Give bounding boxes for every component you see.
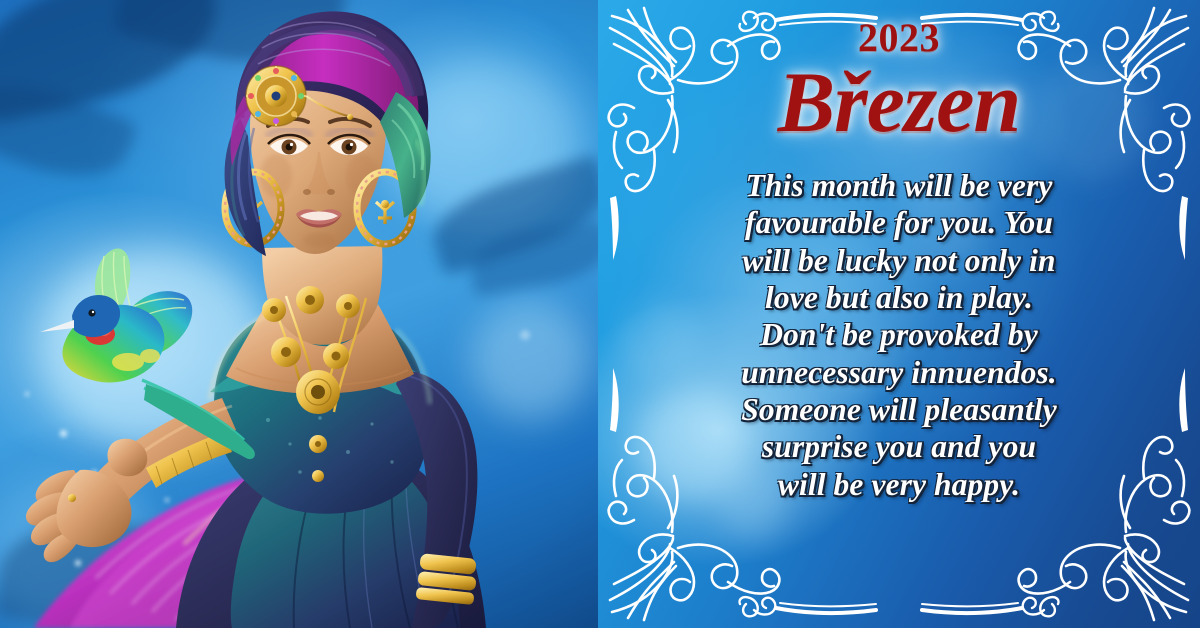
horoscope-line: unnecessary innuendos. (654, 354, 1144, 391)
finger-ring (68, 494, 76, 502)
ornament-spike-right-upper (1168, 196, 1198, 262)
illustration-panel (0, 0, 600, 628)
horoscope-line: This month will be very (654, 167, 1144, 204)
horoscope-line: love but also in play. (654, 279, 1144, 316)
ornament-divider-bottom-left (736, 582, 886, 624)
gold-brooch (246, 66, 306, 126)
ornament-spike-right-lower (1168, 366, 1198, 432)
horoscope-body-text: This month will be veryfavourable for yo… (654, 167, 1144, 503)
ornament-spike-left-lower (600, 366, 630, 432)
horoscope-poster: 2023 Březen This month will be veryfavou… (0, 0, 1200, 628)
horoscope-line: favourable for you. You (654, 204, 1144, 241)
hummingbird (40, 248, 255, 459)
ornament-divider-bottom-right (912, 582, 1062, 624)
horoscope-line: Someone will pleasantly (654, 391, 1144, 428)
gold-bangles-right (416, 553, 477, 605)
horoscope-line: surprise you and you (654, 428, 1144, 465)
month-title: Březen (598, 57, 1200, 147)
year-label: 2023 (598, 18, 1200, 58)
horoscope-line: will be very happy. (654, 466, 1144, 503)
horoscope-line: will be lucky not only in (654, 242, 1144, 279)
ornament-spike-left-upper (600, 196, 630, 262)
bird-eye (88, 309, 95, 316)
fortune-teller-figure (0, 0, 600, 628)
bird-beak (40, 320, 74, 332)
text-panel: 2023 Březen This month will be veryfavou… (598, 0, 1200, 628)
horoscope-line: Don't be provoked by (654, 316, 1144, 353)
